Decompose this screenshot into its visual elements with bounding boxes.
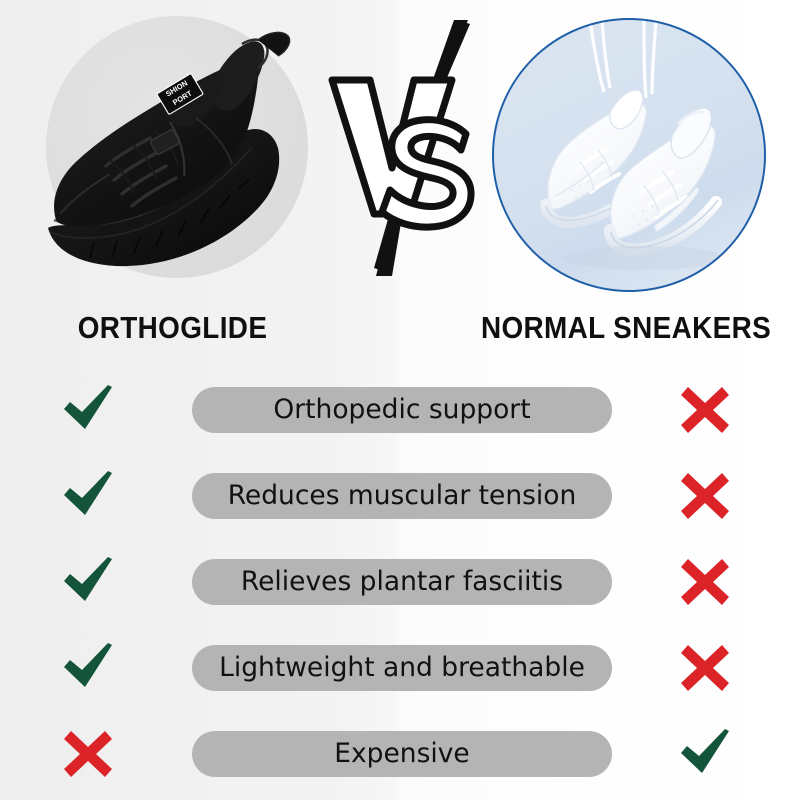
- cross-mark-icon: [677, 555, 733, 609]
- comparison-row: Lightweight and breathable: [0, 624, 800, 710]
- feature-label: Lightweight and breathable: [219, 655, 585, 682]
- feature-label: Relieves plantar fasciitis: [241, 569, 563, 596]
- right-product-circle: [492, 18, 766, 292]
- comparison-row: Orthopedic support: [0, 366, 800, 452]
- check-mark-icon: [60, 641, 116, 695]
- feature-label: Orthopedic support: [273, 397, 530, 424]
- feature-pill: Reduces muscular tension: [192, 473, 612, 519]
- column-title-normal-sneakers: NORMAL SNEAKERS: [469, 308, 782, 348]
- feature-pill: Relieves plantar fasciitis: [192, 559, 612, 605]
- feature-pill: Lightweight and breathable: [192, 645, 612, 691]
- orthopedic-black-shoe-image: SHION PORT: [20, 14, 320, 290]
- feature-label: Expensive: [334, 741, 470, 768]
- feature-pill: Orthopedic support: [192, 387, 612, 433]
- hero-product-area: SHION PORT: [0, 0, 800, 300]
- versus-badge: [318, 18, 498, 278]
- cross-mark-icon: [677, 383, 733, 437]
- feature-pill: Expensive: [192, 731, 612, 777]
- check-mark-icon: [677, 727, 733, 781]
- check-mark-icon: [60, 555, 116, 609]
- cross-mark-icon: [677, 641, 733, 695]
- check-mark-icon: [60, 469, 116, 523]
- white-sneakers-image: [494, 20, 764, 290]
- cross-mark-icon: [60, 727, 116, 781]
- check-mark-icon: [60, 383, 116, 437]
- comparison-rows: Orthopedic support Reduces muscular tens…: [0, 366, 800, 796]
- comparison-infographic: SHION PORT: [0, 0, 800, 800]
- feature-label: Reduces muscular tension: [228, 483, 577, 510]
- column-title-orthoglide: ORTHOGLIDE: [17, 308, 328, 348]
- comparison-row: Reduces muscular tension: [0, 452, 800, 538]
- cross-mark-icon: [677, 469, 733, 523]
- comparison-row: Relieves plantar fasciitis: [0, 538, 800, 624]
- comparison-row: Expensive: [0, 710, 800, 796]
